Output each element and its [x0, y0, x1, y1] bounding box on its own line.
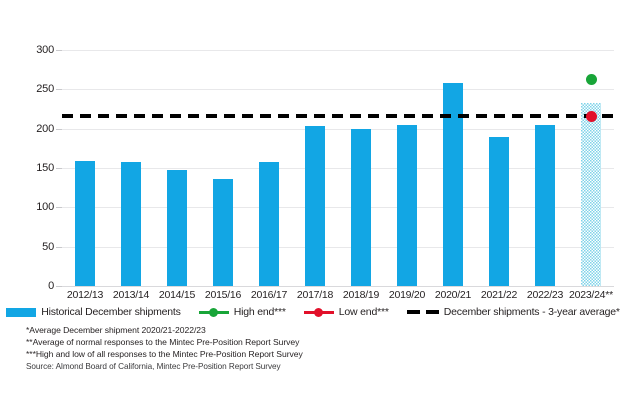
low-end-marker[interactable] — [586, 111, 597, 122]
legend-label: High end*** — [234, 306, 286, 318]
y-axis-tick-label: 250 — [20, 83, 54, 95]
y-axis-tick-mark — [56, 168, 62, 169]
y-axis-tick-mark — [56, 89, 62, 90]
bar[interactable] — [581, 103, 601, 286]
legend-item-historical[interactable]: Historical December shipments — [6, 306, 181, 318]
x-axis-tick-label: 2017/18 — [292, 289, 338, 301]
y-axis-tick-label: 200 — [20, 123, 54, 135]
bar[interactable] — [75, 161, 95, 286]
x-axis-tick-label: 2023/24** — [568, 289, 614, 301]
legend-label: Low end*** — [339, 306, 389, 318]
x-axis-tick-label: 2022/23 — [522, 289, 568, 301]
x-axis-tick-label: 2015/16 — [200, 289, 246, 301]
x-axis-tick-label: 2019/20 — [384, 289, 430, 301]
x-axis-tick-label: 2016/17 — [246, 289, 292, 301]
line-dot-icon — [304, 307, 334, 318]
footnote-2: **Average of normal responses to the Min… — [26, 336, 586, 348]
bar-swatch-icon — [6, 308, 36, 317]
legend-label: Historical December shipments — [41, 306, 181, 318]
y-axis-tick-mark — [56, 247, 62, 248]
x-axis-tick-label: 2018/19 — [338, 289, 384, 301]
y-axis-tick-mark — [56, 286, 62, 287]
y-axis-tick-label: 0 — [20, 280, 54, 292]
bar[interactable] — [213, 179, 233, 286]
y-axis-tick-label: 100 — [20, 201, 54, 213]
chart-container: Shipments (million lb) 05010015020025030… — [0, 0, 626, 417]
bar[interactable] — [397, 125, 417, 286]
legend-item-high-end[interactable]: High end*** — [199, 306, 286, 318]
bar[interactable] — [305, 126, 325, 286]
bar[interactable] — [535, 125, 555, 286]
x-axis-tick-label: 2012/13 — [62, 289, 108, 301]
gridline — [62, 168, 614, 169]
x-axis-tick-label: 2021/22 — [476, 289, 522, 301]
y-axis-tick-label: 300 — [20, 44, 54, 56]
source-note: Source: Almond Board of California, Mint… — [26, 361, 586, 373]
y-axis-tick-mark — [56, 50, 62, 51]
x-axis-tick-label: 2020/21 — [430, 289, 476, 301]
gridline — [62, 89, 614, 90]
legend-label: December shipments - 3-year average* — [444, 306, 620, 318]
gridline — [62, 50, 614, 51]
y-axis-tick-mark — [56, 129, 62, 130]
x-axis-labels: 2012/132013/142014/152015/162016/172017/… — [62, 289, 614, 305]
y-axis-tick-label: 50 — [20, 241, 54, 253]
bar[interactable] — [351, 129, 371, 286]
x-axis-tick-label: 2014/15 — [154, 289, 200, 301]
footnote-1: *Average December shipment 2020/21-2022/… — [26, 324, 586, 336]
high-end-marker[interactable] — [586, 74, 597, 85]
legend-item-low-end[interactable]: Low end*** — [304, 306, 389, 318]
legend-item-three-year-average[interactable]: December shipments - 3-year average* — [407, 306, 620, 318]
bar[interactable] — [259, 162, 279, 286]
average-reference-line — [62, 114, 614, 118]
gridline — [62, 247, 614, 248]
y-axis-tick-label: 150 — [20, 162, 54, 174]
footnote-3: ***High and low of all responses to the … — [26, 348, 586, 360]
bar[interactable] — [489, 137, 509, 286]
line-dot-icon — [199, 307, 229, 318]
gridline — [62, 207, 614, 208]
chart-legend: Historical December shipments High end**… — [0, 304, 626, 320]
gridline — [62, 129, 614, 130]
dashed-line-icon — [407, 310, 439, 314]
gridline — [62, 286, 614, 287]
y-axis-tick-mark — [56, 207, 62, 208]
footnotes: *Average December shipment 2020/21-2022/… — [26, 324, 586, 373]
bar[interactable] — [121, 162, 141, 286]
plot-area: 050100150200250300 — [62, 50, 614, 286]
x-axis-tick-label: 2013/14 — [108, 289, 154, 301]
bar[interactable] — [167, 170, 187, 286]
